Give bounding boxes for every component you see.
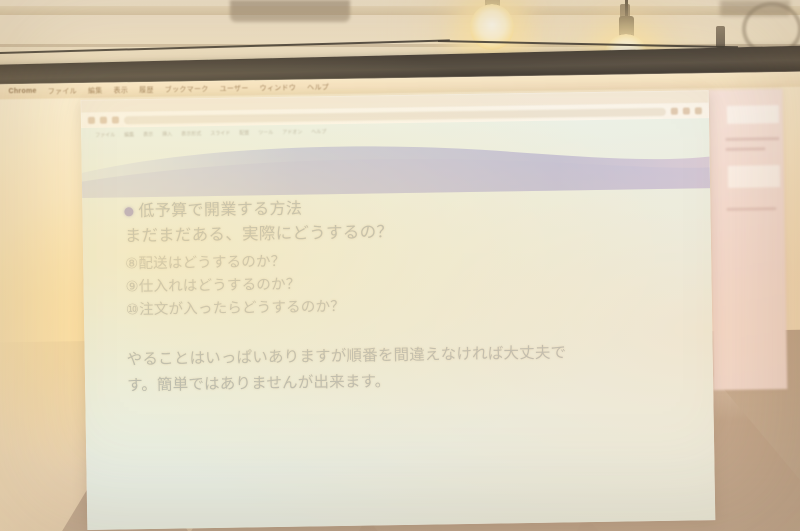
menubar-item-file[interactable]: ファイル: [48, 86, 77, 96]
panel-field[interactable]: [728, 165, 780, 188]
slide-wave-decoration: [81, 130, 715, 199]
slides-menu-addons[interactable]: アドオン: [282, 128, 302, 135]
slide-list: ⑧配送はどうするのか？ ⑨仕入れはどうするのか？ ⑩注文が入ったらどうするのか？: [125, 244, 686, 322]
slides-menu-view[interactable]: 表示: [143, 130, 153, 137]
menubar-item-help[interactable]: ヘルプ: [307, 82, 329, 92]
panel-field[interactable]: [727, 105, 779, 124]
slides-menu-slide[interactable]: スライド: [210, 129, 230, 136]
slide-title: 低予算で開業する方法: [138, 197, 302, 224]
slides-menu-insert[interactable]: 挿入: [162, 130, 172, 137]
chrome-browser-window[interactable]: ファイル 編集 表示 挿入 表示形式 スライド 配置 ツール アドオン ヘルプ: [81, 90, 716, 530]
panel-text-line: [725, 137, 779, 141]
slide-content: 低予算で開業する方法 まだまだある、実際にどうするの？ ⑧配送はどうするのか？ …: [124, 191, 687, 398]
projector-screen: Chrome ファイル 編集 表示 履歴 ブックマーク ユーザー ウィンドウ ヘ…: [0, 71, 800, 531]
projected-screenshot-scene: Chrome ファイル 編集 表示 履歴 ブックマーク ユーザー ウィンドウ ヘ…: [0, 0, 800, 531]
ceiling-beam: [0, 6, 800, 15]
light-bulb: [470, 0, 514, 56]
menubar-item-view[interactable]: 表示: [113, 85, 128, 95]
menubar-item-bookmarks[interactable]: ブックマーク: [165, 84, 209, 95]
back-arrow-icon[interactable]: [88, 117, 95, 124]
menubar-app-name[interactable]: Chrome: [8, 88, 36, 95]
menubar-item-edit[interactable]: 編集: [88, 85, 103, 95]
menu-kebab-icon[interactable]: [695, 107, 702, 114]
slides-menu-format[interactable]: 表示形式: [181, 130, 201, 137]
menubar-item-window[interactable]: ウィンドウ: [260, 82, 297, 93]
slides-menu-help[interactable]: ヘルプ: [311, 128, 326, 135]
panel-text-line: [726, 207, 776, 211]
menubar-item-profiles[interactable]: ユーザー: [219, 83, 248, 93]
slides-menu-edit[interactable]: 編集: [124, 131, 134, 138]
extensions-icon[interactable]: [671, 108, 678, 115]
panel-text-line: [725, 147, 765, 151]
bullet-dot-icon: [124, 207, 133, 216]
slides-menu-tools[interactable]: ツール: [258, 129, 273, 136]
slide-note: やることはいっぱいありますが順番を間違えなければ大丈夫です。簡単ではありませんが…: [127, 341, 588, 398]
profile-avatar-icon[interactable]: [683, 107, 690, 114]
ceiling-hook: [716, 26, 725, 48]
slides-menu-arrange[interactable]: 配置: [239, 129, 249, 136]
presentation-slide: ファイル 編集 表示 挿入 表示形式 スライド 配置 ツール アドオン ヘルプ: [81, 118, 715, 530]
ceiling-duct: [230, 0, 350, 22]
menubar-item-history[interactable]: 履歴: [139, 84, 154, 94]
forward-arrow-icon[interactable]: [100, 117, 107, 124]
secondary-window-panel[interactable]: [709, 89, 788, 390]
slides-menu-file[interactable]: ファイル: [95, 131, 115, 138]
reload-icon[interactable]: [112, 116, 119, 123]
